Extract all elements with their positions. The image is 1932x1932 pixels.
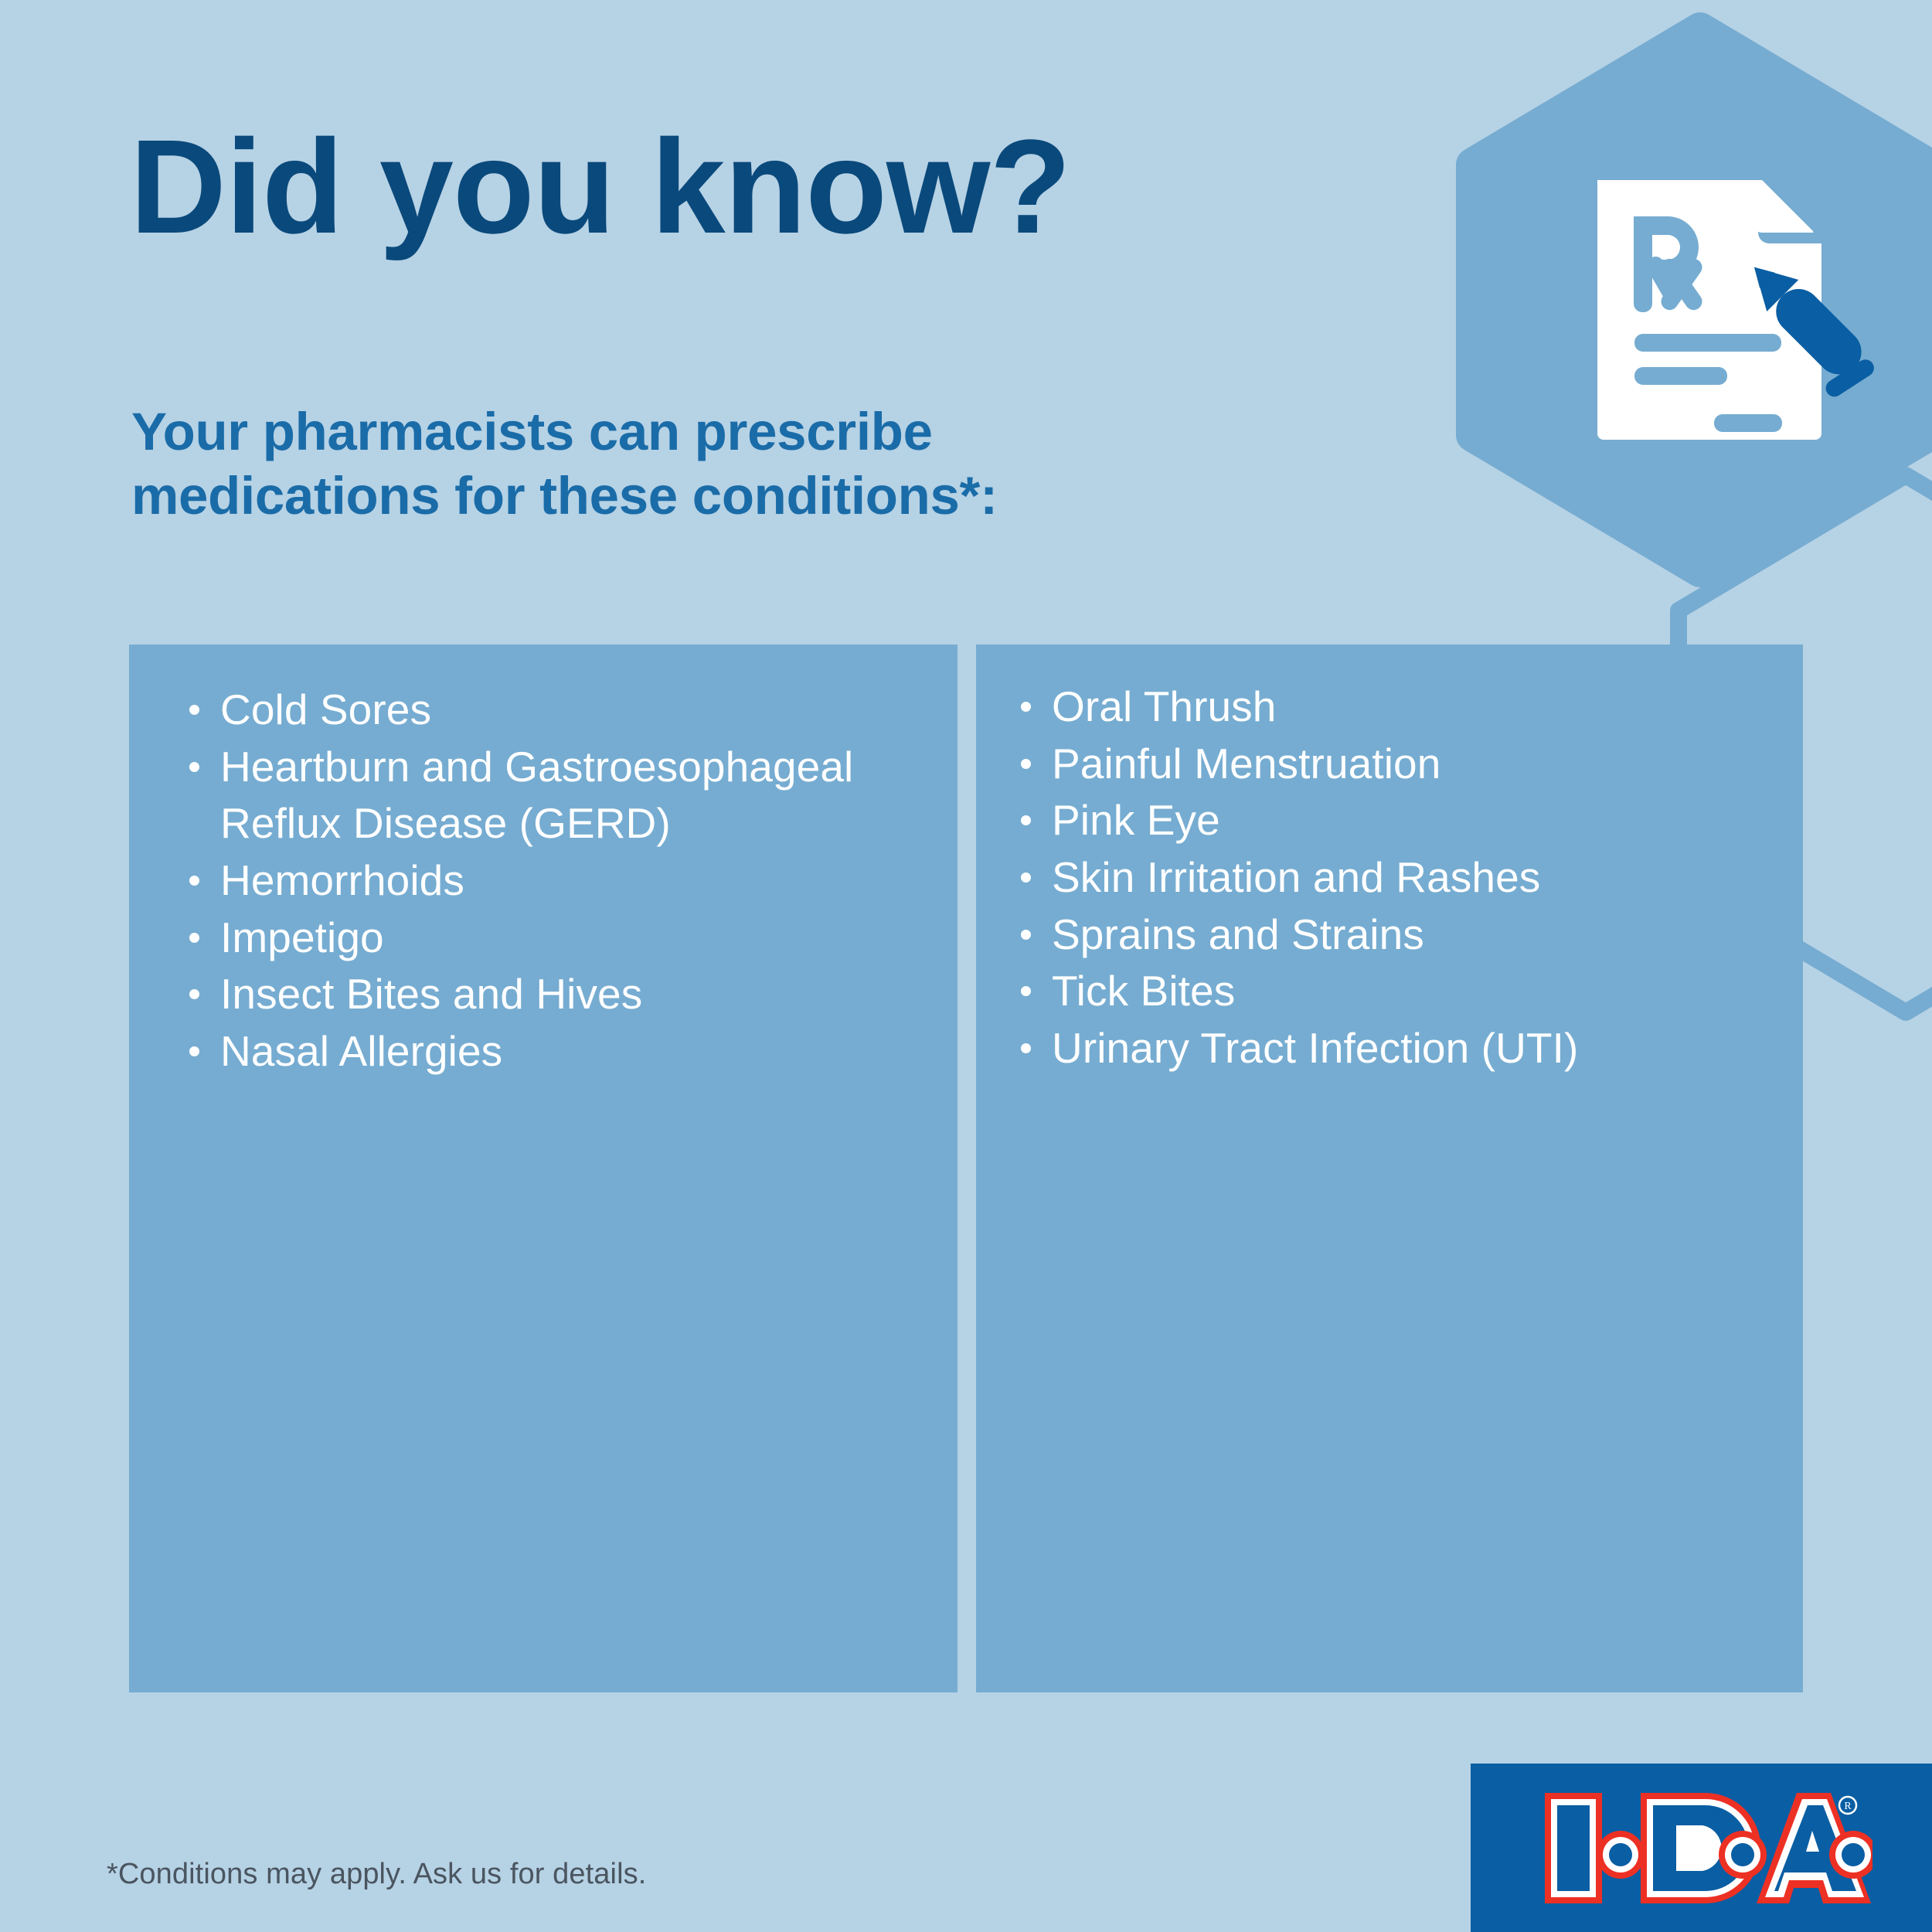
ida-logo-block: R [1471, 1764, 1932, 1932]
page-subtitle: Your pharmacists can prescribe medicatio… [131, 400, 998, 529]
page-title: Did you know? [130, 120, 1070, 253]
registered-trademark-icon: R [1839, 1797, 1856, 1814]
list-item: Skin Irritation and Rashes [1016, 849, 1772, 906]
disclaimer-text: *Conditions may apply. Ask us for detail… [107, 1858, 646, 1891]
conditions-panel-left: Cold Sores Heartburn and Gastroesophagea… [129, 645, 957, 1692]
list-item: Heartburn and Gastroesophageal Reflux Di… [185, 739, 927, 852]
conditions-list-right: Oral Thrush Painful Menstruation Pink Ey… [976, 645, 1803, 1077]
hexagon-icon [1473, 29, 1927, 570]
list-item: Sprains and Strains [1016, 906, 1772, 964]
list-item: Oral Thrush [1016, 679, 1772, 736]
list-item: Hemorrhoids [185, 852, 927, 910]
list-item: Cold Sores [185, 682, 927, 739]
list-item: Urinary Tract Infection (UTI) [1016, 1020, 1772, 1077]
conditions-panel-right: Oral Thrush Painful Menstruation Pink Ey… [976, 645, 1803, 1692]
svg-text:R: R [1844, 1801, 1852, 1812]
list-item: Painful Menstruation [1016, 736, 1772, 793]
ida-logo-icon: R [1540, 1788, 1872, 1908]
list-item: Insect Bites and Hives [185, 966, 927, 1023]
pen-icon [1726, 251, 1883, 408]
list-item: Nasal Allergies [185, 1023, 927, 1080]
list-item: Pink Eye [1016, 792, 1772, 849]
conditions-list-left: Cold Sores Heartburn and Gastroesophagea… [129, 645, 957, 1080]
prescription-document-icon [1597, 180, 1821, 440]
list-item: Tick Bites [1016, 963, 1772, 1020]
list-item: Impetigo [185, 910, 927, 967]
